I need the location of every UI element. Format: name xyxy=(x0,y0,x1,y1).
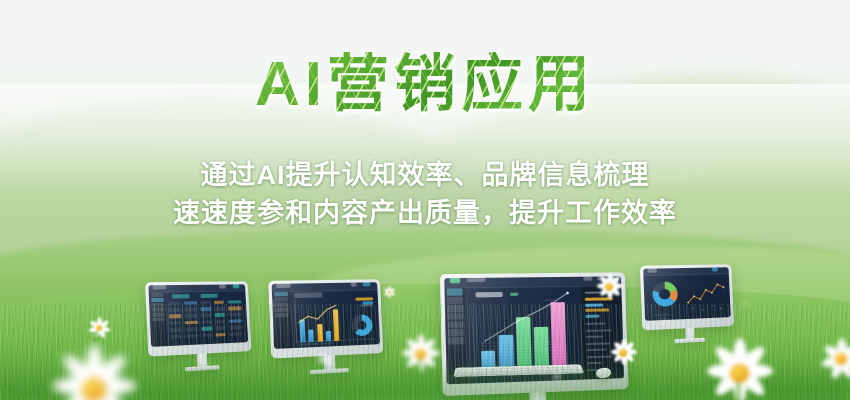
table-cell xyxy=(170,334,182,338)
monitor-neck xyxy=(685,328,695,339)
table-cell xyxy=(215,313,225,317)
table-cell xyxy=(228,313,242,317)
table-cell xyxy=(228,306,242,310)
table-cell xyxy=(185,334,199,338)
table-cell xyxy=(229,332,243,336)
page-title: AI营销应用 xyxy=(255,52,595,117)
monitor-bezel xyxy=(268,279,383,358)
subtitle-block: 通过AI提升认知效率、品牌信息梳理 速速度参和内容产出质量，提升工作效率 xyxy=(0,156,850,233)
sidebar-item-active[interactable] xyxy=(151,298,164,302)
table-cell xyxy=(200,307,212,311)
daisy-flower-far-right xyxy=(818,336,850,382)
table-cell xyxy=(216,333,226,337)
table-cell xyxy=(169,321,181,325)
subtitle-line-1: 通过AI提升认知效率、品牌信息梳理 xyxy=(0,156,850,194)
table-cell xyxy=(201,327,213,331)
flower-core xyxy=(619,349,627,357)
flower-stem xyxy=(419,359,421,377)
table-cell xyxy=(229,325,243,329)
table-cell xyxy=(215,320,225,324)
table-cell xyxy=(228,319,242,323)
sidebar-item[interactable] xyxy=(151,308,164,312)
table-cell xyxy=(202,333,214,337)
table-cell xyxy=(170,328,182,332)
monitor-screen xyxy=(272,282,380,349)
bokeh-speck xyxy=(202,360,210,367)
dashboard-overview-view xyxy=(643,267,731,321)
sidebar-item[interactable] xyxy=(151,293,164,297)
bokeh-speck xyxy=(660,318,667,325)
flower-core xyxy=(835,353,847,365)
table-cell xyxy=(183,301,197,305)
monitor-right-donut-scatter xyxy=(640,264,735,345)
flower-core xyxy=(96,325,102,331)
monitor-screen xyxy=(643,267,731,321)
flower-core xyxy=(730,364,749,383)
subtitle-line-2: 速速度参和内容产出质量，提升工作效率 xyxy=(0,194,850,232)
daisy-flower-right-upper xyxy=(594,272,624,302)
table-cell xyxy=(184,321,198,325)
flower-core xyxy=(388,291,391,294)
table-cell xyxy=(185,327,199,331)
table-cell xyxy=(216,326,226,330)
table-header-cell xyxy=(201,293,218,297)
table-cell xyxy=(201,320,213,324)
marketing-banner: AI营销应用 通过AI提升认知效率、品牌信息梳理 速速度参和内容产出质量，提升工… xyxy=(0,0,850,400)
flower-core xyxy=(82,378,106,400)
table-cell xyxy=(168,301,180,305)
daisy-flower xyxy=(86,316,112,342)
monitor-bezel xyxy=(640,264,734,330)
daisy-flower-right-mid xyxy=(608,338,638,368)
topbar-logo xyxy=(152,285,166,289)
table-cell xyxy=(184,307,198,311)
table-header-cell xyxy=(172,294,190,298)
monitor-screen xyxy=(148,284,248,347)
sidebar-item[interactable] xyxy=(152,317,165,321)
monitor-bezel xyxy=(145,281,251,356)
sidebar-item[interactable] xyxy=(151,303,164,307)
title-block: AI营销应用 xyxy=(0,52,850,117)
bokeh-speck xyxy=(317,353,329,365)
dashboard-analytics-view xyxy=(272,282,380,349)
table-cell xyxy=(215,307,225,311)
table-cell xyxy=(227,300,241,304)
topbar-action xyxy=(219,285,226,289)
daisy-flower-bottom-right xyxy=(702,336,776,400)
dashboard-sidebar xyxy=(149,292,169,347)
table-cell xyxy=(201,314,213,318)
dashboard-table-view xyxy=(148,284,248,347)
daisy-flower-center xyxy=(399,333,441,377)
daisy-flower-foreground xyxy=(46,342,142,400)
bokeh-speck xyxy=(552,372,562,381)
table-cell xyxy=(169,314,181,318)
flower-stem xyxy=(737,382,740,400)
table-cell xyxy=(184,314,198,318)
topbar-account xyxy=(232,285,239,289)
table-cell xyxy=(214,300,224,304)
sidebar-item[interactable] xyxy=(152,313,165,317)
bokeh-speck xyxy=(742,300,748,306)
scatter-chart xyxy=(643,267,731,321)
flower-core xyxy=(605,283,613,291)
table-cell xyxy=(169,308,181,312)
daisy-bud xyxy=(383,286,396,299)
bokeh-speck xyxy=(268,300,274,306)
table-cell xyxy=(200,301,212,305)
